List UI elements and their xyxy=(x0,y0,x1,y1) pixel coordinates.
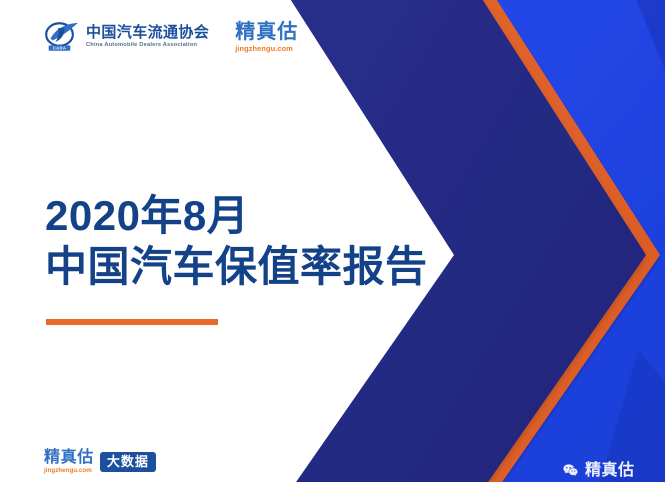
header-logo-group: CADA 中国汽车流通协会 China Automobile Dealers A… xyxy=(45,22,298,52)
footer-jingzhengu-wordmark: 精真估 jingzhengu.com xyxy=(44,450,94,474)
title-underline-rule xyxy=(46,319,218,325)
footer-brand-name-cn: 精真估 xyxy=(44,450,94,466)
slide-canvas: CADA 中国汽车流通协会 China Automobile Dealers A… xyxy=(0,0,665,482)
cada-association-logo: CADA 中国汽车流通协会 China Automobile Dealers A… xyxy=(45,22,209,52)
footer-bigdata-badge: 大数据 xyxy=(100,452,156,472)
footer-brand-lockup: 精真估 jingzhengu.com 大数据 xyxy=(44,450,156,474)
watermark-label: 精真估 xyxy=(585,463,635,479)
jingzhengu-domain: jingzhengu.com xyxy=(235,45,298,52)
cada-name-cn: 中国汽车流通协会 xyxy=(86,25,209,40)
title-line-1: 2020年8月 xyxy=(45,190,428,241)
cada-name-en: China Automobile Dealers Association xyxy=(86,43,212,49)
footer-brand-domain: jingzhengu.com xyxy=(44,468,94,474)
page-title: 2020年8月 中国汽车保值率报告 xyxy=(45,190,428,292)
cada-wordmark: 中国汽车流通协会 China Automobile Dealers Associ… xyxy=(86,25,209,49)
jingzhengu-name-cn: 精真估 xyxy=(235,22,298,42)
cada-emblem-icon: CADA xyxy=(45,22,79,52)
wechat-watermark: 精真估 xyxy=(562,462,635,479)
wechat-icon xyxy=(562,462,579,479)
title-line-2: 中国汽车保值率报告 xyxy=(45,241,428,292)
svg-text:CADA: CADA xyxy=(53,46,66,51)
jingzhengu-logo: 精真估 jingzhengu.com xyxy=(235,22,298,52)
